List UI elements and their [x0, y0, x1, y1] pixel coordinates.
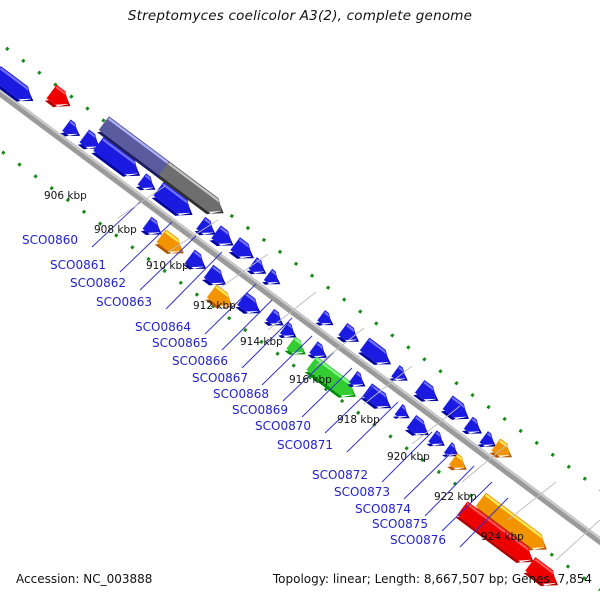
gene-label[interactable]: SCO0876 [390, 533, 446, 547]
axis-base [0, 78, 600, 556]
scale-tick-label: 916 kbp [289, 374, 332, 386]
scale-tick-label: 920 kbp [387, 451, 430, 463]
gene-arrow[interactable] [447, 453, 471, 477]
gene-label[interactable]: SCO0867 [192, 371, 248, 385]
gene-arrows-layer [0, 39, 563, 594]
scale-tick-label: 908 kbp [94, 224, 137, 236]
scale-tick-label: 922 kbp [434, 491, 477, 503]
gene-arrow-body [443, 396, 472, 424]
gene-label-leader [347, 402, 398, 452]
gene-label[interactable]: SCO0864 [135, 320, 191, 334]
gene-arrow[interactable] [393, 404, 414, 425]
scale-tick-label: 924 kbp [481, 531, 524, 543]
gene-arrow[interactable] [405, 415, 434, 443]
gene-label[interactable]: SCO0860 [22, 233, 78, 247]
page-title: Streptomyces coelicolor A3(2), complete … [0, 8, 600, 24]
gene-arrow[interactable] [45, 85, 76, 115]
gene-label[interactable]: SCO0863 [96, 295, 152, 309]
gene-label[interactable]: SCO0861 [50, 258, 106, 272]
gene-label[interactable]: SCO0865 [152, 336, 208, 350]
gene-arrow[interactable] [235, 292, 265, 321]
gene-arrow-body [237, 292, 263, 317]
gene-label[interactable]: SCO0862 [70, 276, 126, 290]
gene-label[interactable]: SCO0874 [355, 502, 411, 516]
genome-map-canvas [0, 0, 600, 600]
scale-tick-label: 906 kbp [44, 190, 87, 202]
gene-label[interactable]: SCO0873 [334, 485, 390, 499]
gene-arrow-body [230, 237, 256, 262]
gene-label[interactable]: SCO0869 [232, 403, 288, 417]
scale-tick-label: 918 kbp [337, 414, 380, 426]
gene-label[interactable]: SCO0875 [372, 517, 428, 531]
axis-highlight [0, 76, 600, 554]
gene-label[interactable]: SCO0870 [255, 419, 311, 433]
gene-label[interactable]: SCO0868 [213, 387, 269, 401]
accession-text: Accession: NC_003888 [16, 572, 152, 586]
scale-tick-label: 914 kbp [240, 336, 283, 348]
gene-label[interactable]: SCO0872 [312, 468, 368, 482]
genome-axis-line [0, 76, 600, 556]
gene-label[interactable]: SCO0866 [172, 354, 228, 368]
scale-tick-label: 910 kbp [146, 260, 189, 272]
genome-stats-text: Topology: linear; Length: 8,667,507 bp; … [273, 572, 592, 586]
gene-arrow[interactable] [0, 66, 38, 109]
genome-map-viewer: Streptomyces coelicolor A3(2), complete … [0, 0, 600, 600]
gene-label[interactable]: SCO0871 [277, 438, 333, 452]
scale-tick-label: 912 kbp [193, 300, 236, 312]
